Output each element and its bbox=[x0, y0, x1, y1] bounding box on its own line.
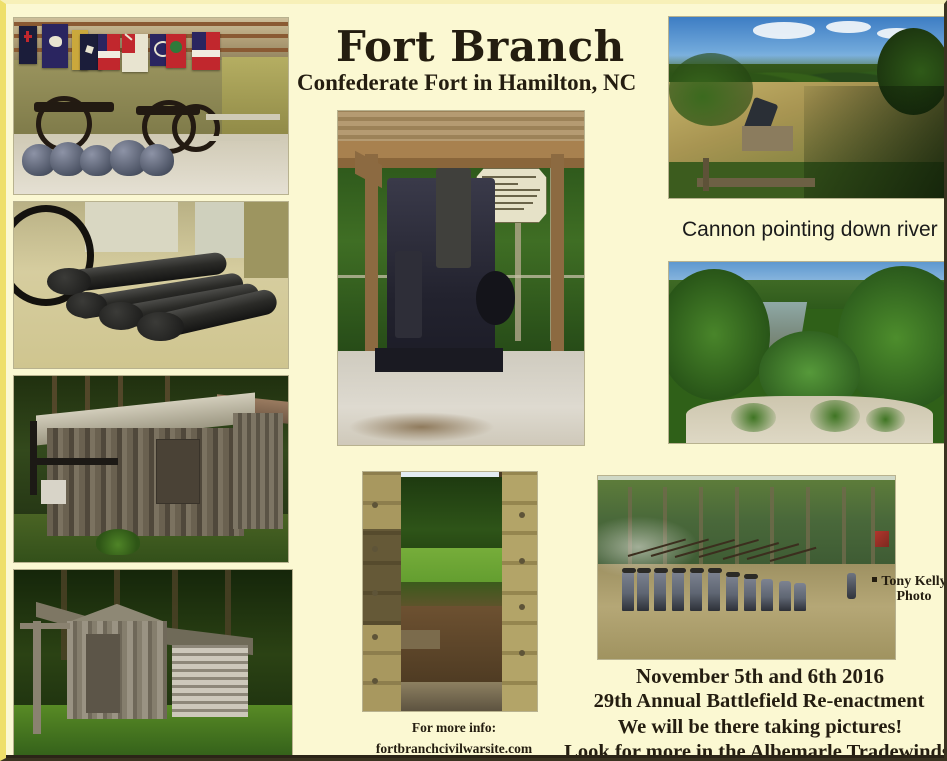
reenactor bbox=[672, 571, 684, 611]
cannon bbox=[34, 102, 114, 112]
engine-cylinder bbox=[436, 168, 470, 268]
photo-cannon-emplacement bbox=[669, 17, 947, 198]
flag bbox=[122, 34, 148, 72]
engine-base bbox=[375, 348, 503, 371]
event-name: 29th Annual Battlefield Re-enactment bbox=[566, 690, 947, 713]
photo-outbuildings bbox=[14, 570, 292, 758]
flag bbox=[42, 24, 68, 68]
bottom-rule bbox=[6, 755, 944, 758]
photo-cannon-barrels bbox=[14, 202, 288, 368]
flag bbox=[98, 34, 120, 70]
shadow bbox=[804, 86, 947, 198]
doorway bbox=[195, 202, 250, 258]
photo-credit-name: Tony Kelly bbox=[878, 574, 947, 589]
gate-timber-right bbox=[502, 472, 537, 711]
contact-label: For more info: bbox=[361, 720, 547, 736]
tree-line bbox=[398, 477, 502, 558]
dirt-patch bbox=[348, 412, 496, 442]
event-note: We will be there taking pictures! bbox=[571, 716, 947, 739]
shadow bbox=[363, 529, 401, 625]
reenactor bbox=[622, 571, 634, 611]
photo-steam-engine-pavilion bbox=[338, 111, 584, 445]
shed-wall bbox=[47, 428, 244, 536]
reenactor bbox=[761, 579, 773, 611]
barrel-muzzle bbox=[137, 312, 184, 342]
flag bbox=[19, 26, 37, 64]
log-shed bbox=[172, 645, 247, 716]
barrel-muzzle bbox=[47, 268, 91, 295]
posted-notice bbox=[41, 480, 66, 504]
reenactor bbox=[637, 571, 649, 611]
wooden-stake bbox=[703, 158, 709, 191]
photo-credit-word: Photo bbox=[878, 589, 947, 604]
shed-door bbox=[86, 634, 119, 713]
fence-rail bbox=[20, 623, 70, 629]
reenactor bbox=[744, 577, 756, 611]
shed-side-wall bbox=[233, 413, 282, 528]
gun-platform bbox=[697, 178, 815, 187]
reenactor bbox=[779, 581, 791, 611]
shed-door bbox=[156, 439, 199, 504]
distant-reenactor bbox=[847, 573, 856, 599]
flag bbox=[166, 34, 186, 68]
photo-river-view bbox=[669, 262, 947, 443]
photo-fort-gateway bbox=[363, 472, 537, 711]
doorway bbox=[85, 202, 178, 252]
reenactor bbox=[726, 575, 738, 611]
side-wall bbox=[244, 202, 288, 278]
cannonball bbox=[80, 145, 114, 176]
poster-canvas: Fort Branch Confederate Fort in Hamilton… bbox=[0, 0, 947, 761]
caption-cannon-river: Cannon pointing down river bbox=[682, 218, 938, 242]
reenactor bbox=[690, 571, 702, 611]
page-subtitle: Confederate Fort in Hamilton, NC bbox=[297, 70, 636, 96]
photo-credit: Tony Kelly Photo bbox=[878, 574, 947, 604]
workbench bbox=[206, 114, 280, 120]
timber-sill bbox=[387, 682, 519, 711]
leafy-plant bbox=[96, 529, 140, 555]
cannon-carriage bbox=[742, 126, 793, 151]
cannon bbox=[136, 106, 200, 115]
page-title: Fort Branch bbox=[336, 22, 625, 71]
bullet-icon bbox=[872, 577, 877, 582]
workbench bbox=[206, 136, 280, 141]
pavilion-post bbox=[551, 154, 564, 361]
photo-museum-interior bbox=[14, 18, 288, 194]
event-dates: November 5th and 6th 2016 bbox=[571, 664, 947, 689]
stovepipe bbox=[30, 458, 118, 465]
bushes bbox=[669, 53, 753, 125]
photo-wooden-shed bbox=[14, 376, 288, 562]
pavilion-back-wall bbox=[338, 111, 584, 144]
battle-flag bbox=[875, 531, 889, 547]
cannonball bbox=[140, 144, 174, 176]
engine-flywheel bbox=[476, 271, 515, 324]
reenactor bbox=[654, 571, 666, 611]
flag bbox=[192, 32, 220, 70]
photo-reenactment bbox=[598, 476, 895, 659]
barrel-muzzle bbox=[99, 302, 143, 330]
foliage bbox=[669, 269, 770, 399]
reenactor bbox=[794, 583, 806, 611]
reenactor bbox=[708, 571, 720, 611]
event-publication: Look for more in the Albemarle Tradewind… bbox=[562, 741, 947, 761]
wall-panel bbox=[222, 57, 288, 138]
fence-post bbox=[33, 621, 41, 734]
engine-cylinder bbox=[395, 251, 422, 338]
